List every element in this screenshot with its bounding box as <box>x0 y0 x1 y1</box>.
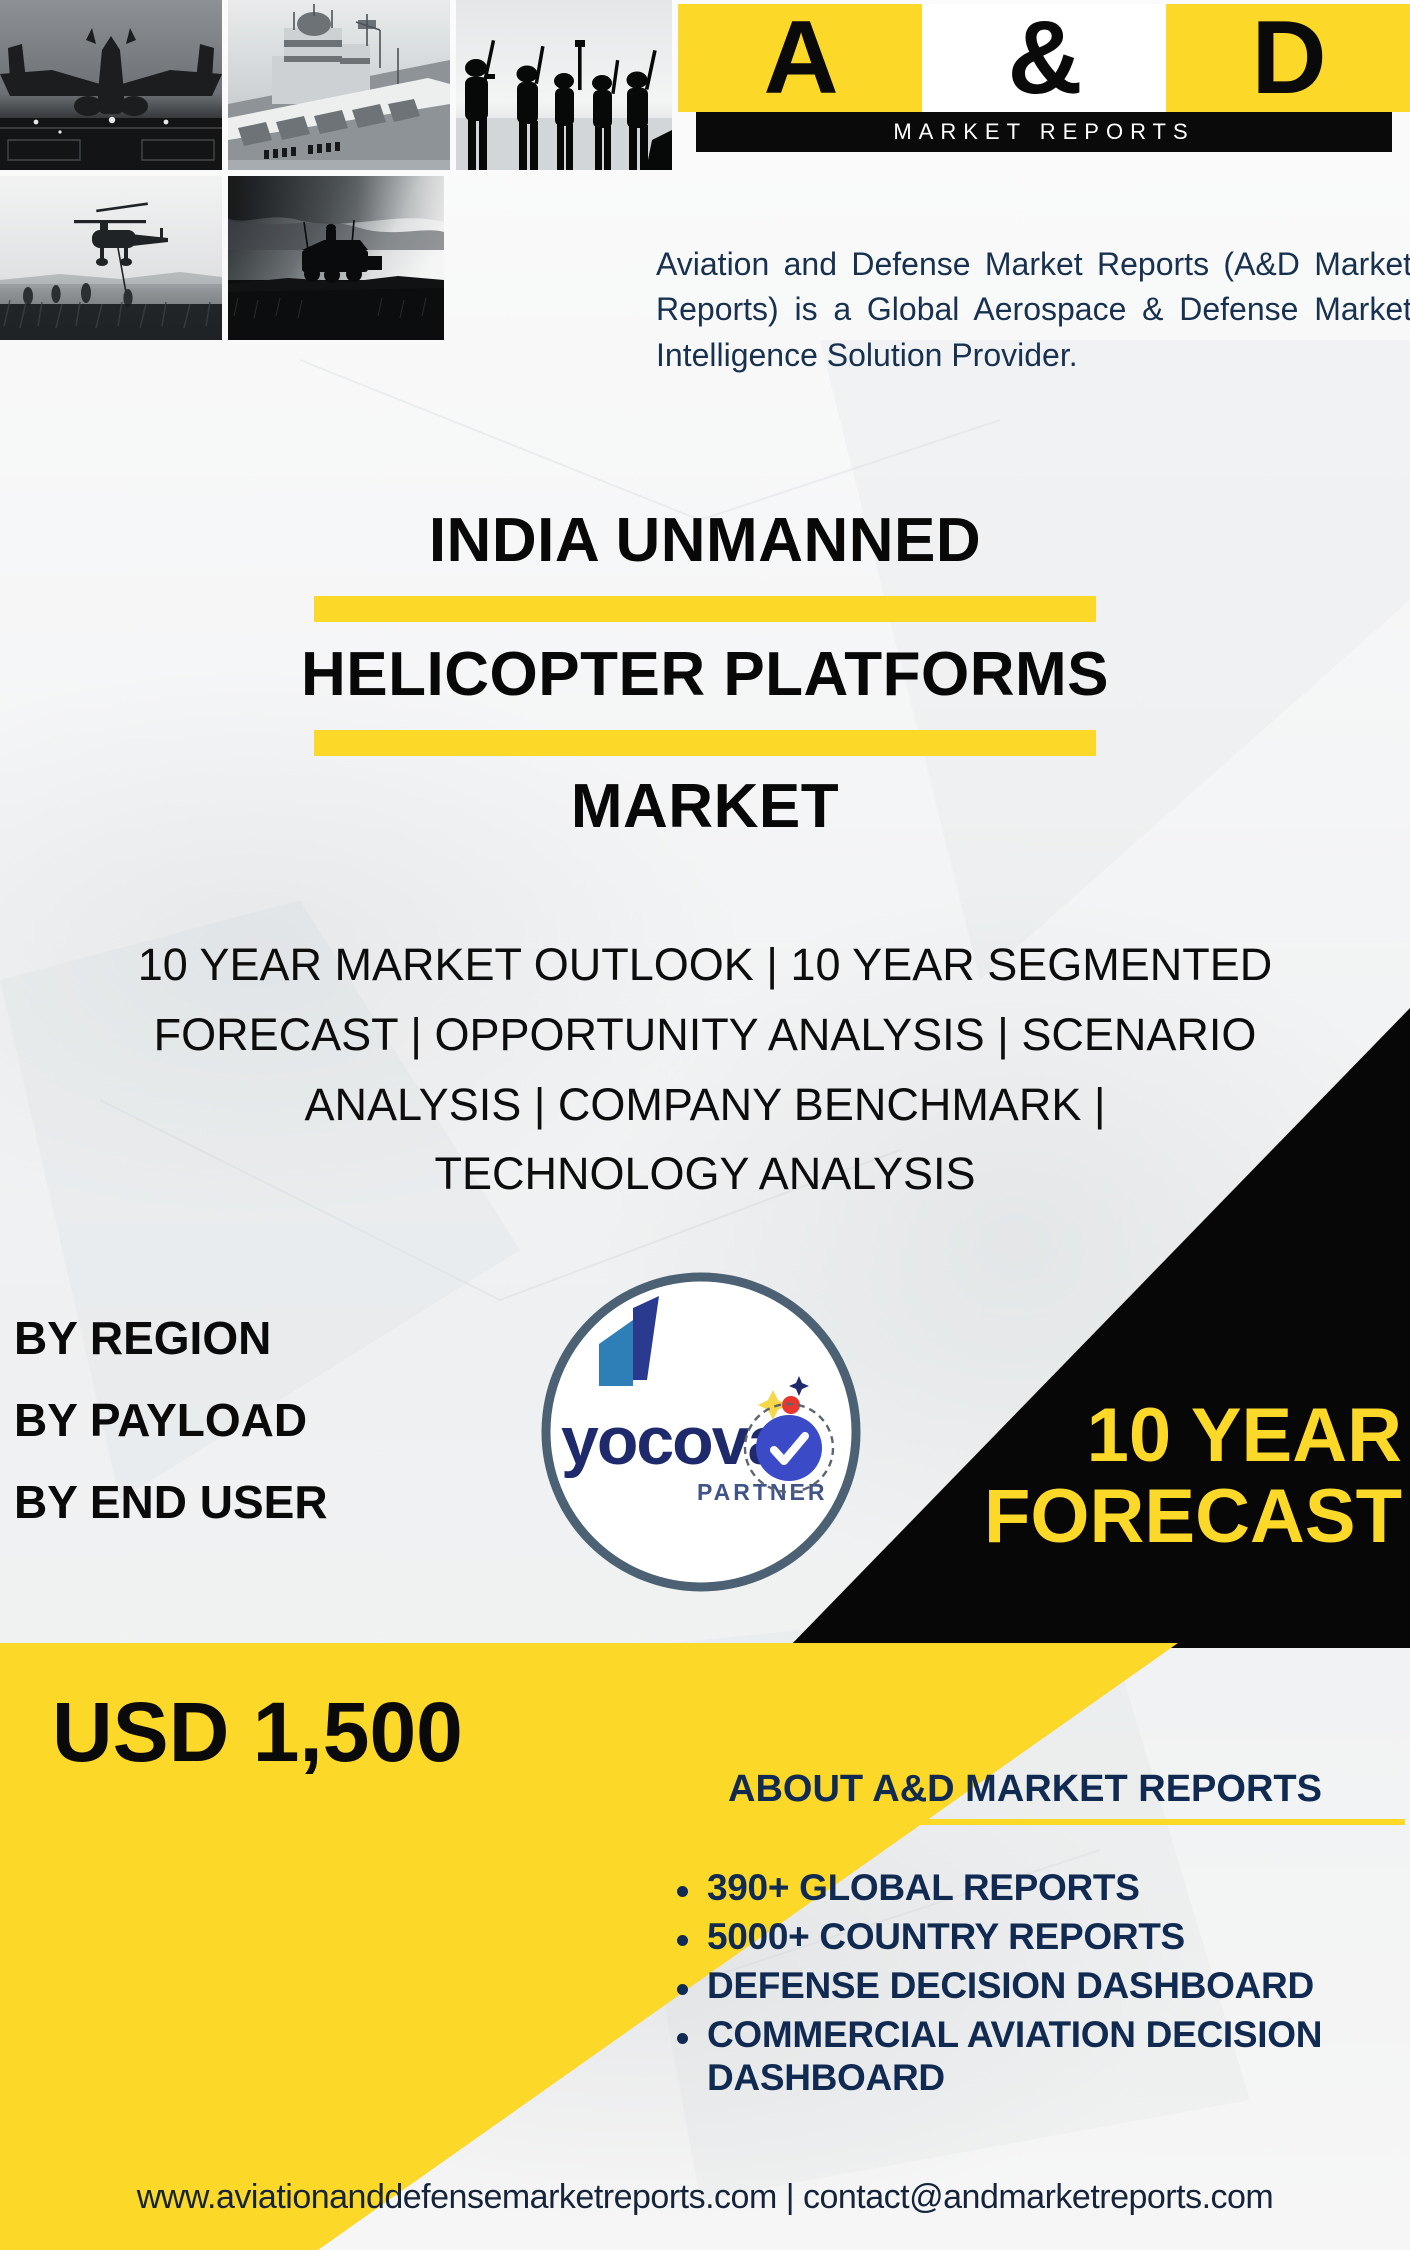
about-bullet-list: 390+ GLOBAL REPORTS 5000+ COUNTRY REPORT… <box>645 1867 1405 2100</box>
page-title-line-1: INDIA UNMANNED <box>0 510 1410 572</box>
photo-grid <box>0 0 672 340</box>
segmentation-list: BY REGION BY PAYLOAD BY END USER <box>14 1315 328 1561</box>
report-scope-subtitle: 10 YEAR MARKET OUTLOOK | 10 YEAR SEGMENT… <box>0 930 1410 1209</box>
photo-fighter-jet-on-carrier-deck <box>0 0 222 170</box>
photo-soldiers-silhouette <box>456 0 672 170</box>
logo-letter-row: A & D <box>678 4 1410 112</box>
yocova-partner-badge: yocova PARTNER <box>537 1268 865 1596</box>
segment-item-by-payload: BY PAYLOAD <box>14 1397 328 1443</box>
about-bullet-global-reports: 390+ GLOBAL REPORTS <box>707 1867 1405 1910</box>
company-intro-paragraph: Aviation and Defense Market Reports (A&D… <box>656 242 1410 378</box>
about-heading: ABOUT A&D MARKET REPORTS <box>645 1768 1405 1811</box>
report-cover-poster: A & D MARKET REPORTS Aviation and Defens… <box>0 0 1410 2250</box>
title-yellow-rule-2 <box>314 730 1096 756</box>
svg-text:yocova: yocova <box>561 1403 787 1479</box>
report-title-block: INDIA UNMANNED HELICOPTER PLATFORMS MARK… <box>0 510 1410 838</box>
ad-market-reports-logo: A & D MARKET REPORTS <box>678 0 1410 152</box>
logo-letter-a: A <box>678 4 922 112</box>
title-yellow-rule-1 <box>314 596 1096 622</box>
about-bullet-country-reports: 5000+ COUNTRY REPORTS <box>707 1916 1405 1959</box>
page-title-line-2: HELICOPTER PLATFORMS <box>0 644 1410 706</box>
about-bullet-defense-dashboard: DEFENSE DECISION DASHBOARD <box>707 1965 1405 2008</box>
segment-item-by-end-user: BY END USER <box>14 1479 328 1525</box>
logo-subtitle-text: MARKET REPORTS <box>893 119 1194 145</box>
price-label: USD 1,500 <box>52 1690 463 1774</box>
photo-helicopter-over-field <box>0 176 222 340</box>
subtitle-line-2: FORECAST | OPPORTUNITY ANALYSIS | SCENAR… <box>30 1000 1380 1070</box>
about-heading-underline <box>645 1819 1405 1825</box>
footer-contact-line: www.aviationanddefensemarketreports.com … <box>0 2178 1410 2217</box>
logo-letter-d: D <box>1166 4 1410 112</box>
about-section: ABOUT A&D MARKET REPORTS 390+ GLOBAL REP… <box>645 1768 1405 2106</box>
photo-armored-vehicle-at-dusk <box>228 176 444 340</box>
logo-letter-ampersand: & <box>922 4 1166 112</box>
photo-aircraft-carrier-superstructure <box>228 0 450 170</box>
page-title-line-3: MARKET <box>0 776 1410 838</box>
logo-subtitle-bar: MARKET REPORTS <box>696 112 1392 152</box>
subtitle-line-4: TECHNOLOGY ANALYSIS <box>30 1139 1380 1209</box>
segment-item-by-region: BY REGION <box>14 1315 328 1361</box>
subtitle-line-1: 10 YEAR MARKET OUTLOOK | 10 YEAR SEGMENT… <box>30 930 1380 1000</box>
about-bullet-commercial-aviation-dashboard: COMMERCIAL AVIATION DECISION DASHBOARD <box>707 2014 1405 2100</box>
subtitle-line-3: ANALYSIS | COMPANY BENCHMARK | <box>30 1070 1380 1140</box>
